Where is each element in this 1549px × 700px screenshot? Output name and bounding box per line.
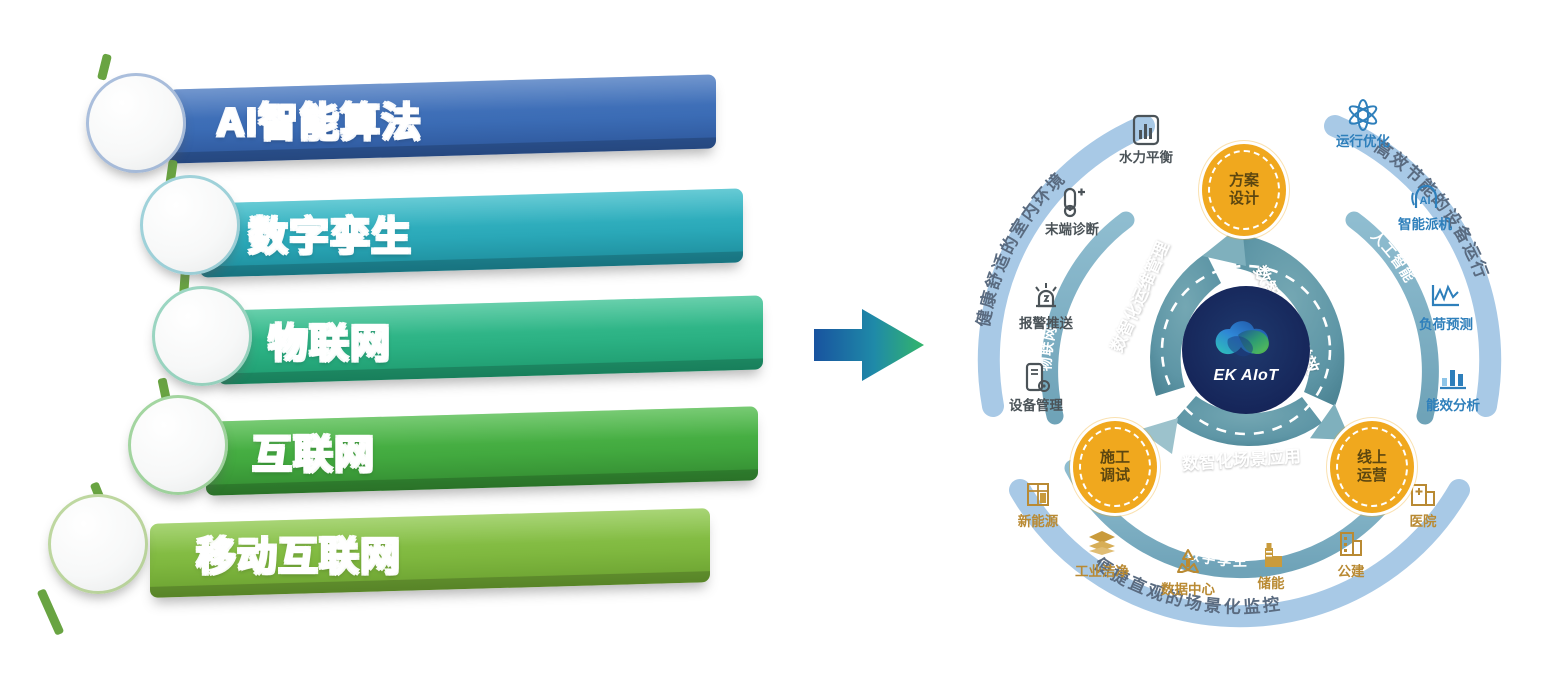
mid-ring-label-right: 人工智能 [1368,228,1418,286]
ek-aiot-platform-wheel: 健康舒适的室内环境 高效节能的设备运行 便捷直观的场景化监控 物联网 人工智能 … [930,38,1549,663]
bar-bullet-1[interactable] [140,175,240,275]
icon-caption: 数据中心 [1145,583,1231,598]
icon-caption: 末端诊断 [1029,223,1115,238]
layers-icon [1059,528,1145,562]
phase-bubble-construction[interactable]: 施工 调试 [1073,421,1157,513]
icon-node-device-management[interactable]: 设备管理 [993,362,1079,414]
icon-node-industrial-clean[interactable]: 工业洁净 [1059,528,1145,580]
svg-text:AI: AI [1420,195,1431,207]
line-chart-icon [1403,281,1489,315]
bar-bullet-3[interactable] [128,395,228,495]
icon-caption: 工业洁净 [1059,565,1145,580]
icon-node-terminal-diagnosis[interactable]: 末端诊断 [1029,186,1115,238]
icon-node-alarm-push[interactable]: 报警推送 [1003,280,1089,332]
stem-connector-tail [37,588,65,636]
phase-line-1: 施工 [1100,449,1130,467]
icon-caption: 运行优化 [1320,135,1406,150]
bullet-rim-1 [140,175,240,275]
office-building-icon [1308,528,1394,562]
icon-node-smart-dispatch[interactable]: AI 智能派机 [1382,181,1468,233]
bar-chart-icon [1103,114,1189,148]
bar-label-0: AI智能算法 [216,90,422,148]
bullet-rim-2 [152,286,252,386]
phase-bubble-operation[interactable]: 线上 运营 [1330,421,1414,513]
icon-node-public-building[interactable]: 公建 [1308,528,1394,580]
bar-label-2: 物联网 [268,311,391,369]
phase-line-1: 方案 [1229,172,1259,190]
bar-bullet-2[interactable] [152,286,252,386]
slide-canvas: AI智能算法 数字孪生 物联网 互联网 [0,0,1549,700]
icon-caption: 水力平衡 [1103,151,1189,166]
bar-label-1: 数字孪生 [248,204,412,262]
transition-arrow [814,305,942,385]
bar-analysis-icon [1410,362,1496,396]
bar-label-3: 互联网 [252,422,375,480]
alarm-icon [1003,280,1089,314]
ai-head-icon: AI [1382,181,1468,215]
phase-bubble-design[interactable]: 方案 设计 [1202,144,1286,236]
bar-bullet-4[interactable] [48,494,148,594]
icon-caption: 智能派机 [1382,218,1468,233]
bullet-rim-0 [86,73,186,173]
thermometer-icon [1029,186,1115,220]
atom-icon [1320,98,1406,132]
phase-line-2: 调试 [1100,467,1130,485]
icon-node-energy-storage[interactable]: 储能 [1228,540,1314,592]
phase-line-1: 线上 [1357,449,1387,467]
bullet-rim-3 [128,395,228,495]
icon-node-operation-optimization[interactable]: 运行优化 [1320,98,1406,150]
icon-node-data-center[interactable]: 数据中心 [1145,546,1231,598]
energy-storage-icon [1228,540,1314,574]
bullet-rim-4 [48,494,148,594]
icon-node-new-energy[interactable]: 新能源 [995,478,1081,530]
new-energy-icon [995,478,1081,512]
icon-caption: 新能源 [995,515,1081,530]
bar-bullet-0[interactable] [86,73,186,173]
icon-caption: 储能 [1228,577,1314,592]
recycle-icon [1145,546,1231,580]
ek-aiot-logo: EK AIoT [1182,286,1310,414]
phase-line-2: 设计 [1229,190,1259,208]
icon-caption: 设备管理 [993,399,1079,414]
icon-caption: 负荷预测 [1403,318,1489,333]
icon-node-load-forecast[interactable]: 负荷预测 [1403,281,1489,333]
icon-node-water-balance[interactable]: 水力平衡 [1103,114,1189,166]
icon-node-energy-analysis[interactable]: 能效分析 [1410,362,1496,414]
bar-label-4: 移动互联网 [196,524,401,582]
cloud-infinity-icon [1208,315,1284,365]
icon-caption: 报警推送 [1003,317,1089,332]
icon-caption: 能效分析 [1410,399,1496,414]
phase-line-2: 运营 [1357,467,1387,485]
technology-stack-bars: AI智能算法 数字孪生 物联网 互联网 [0,0,860,700]
server-gear-icon [993,362,1079,396]
stem-connector-0 [97,53,112,80]
icon-caption: 公建 [1308,565,1394,580]
logo-text: EK AIoT [1213,367,1278,385]
